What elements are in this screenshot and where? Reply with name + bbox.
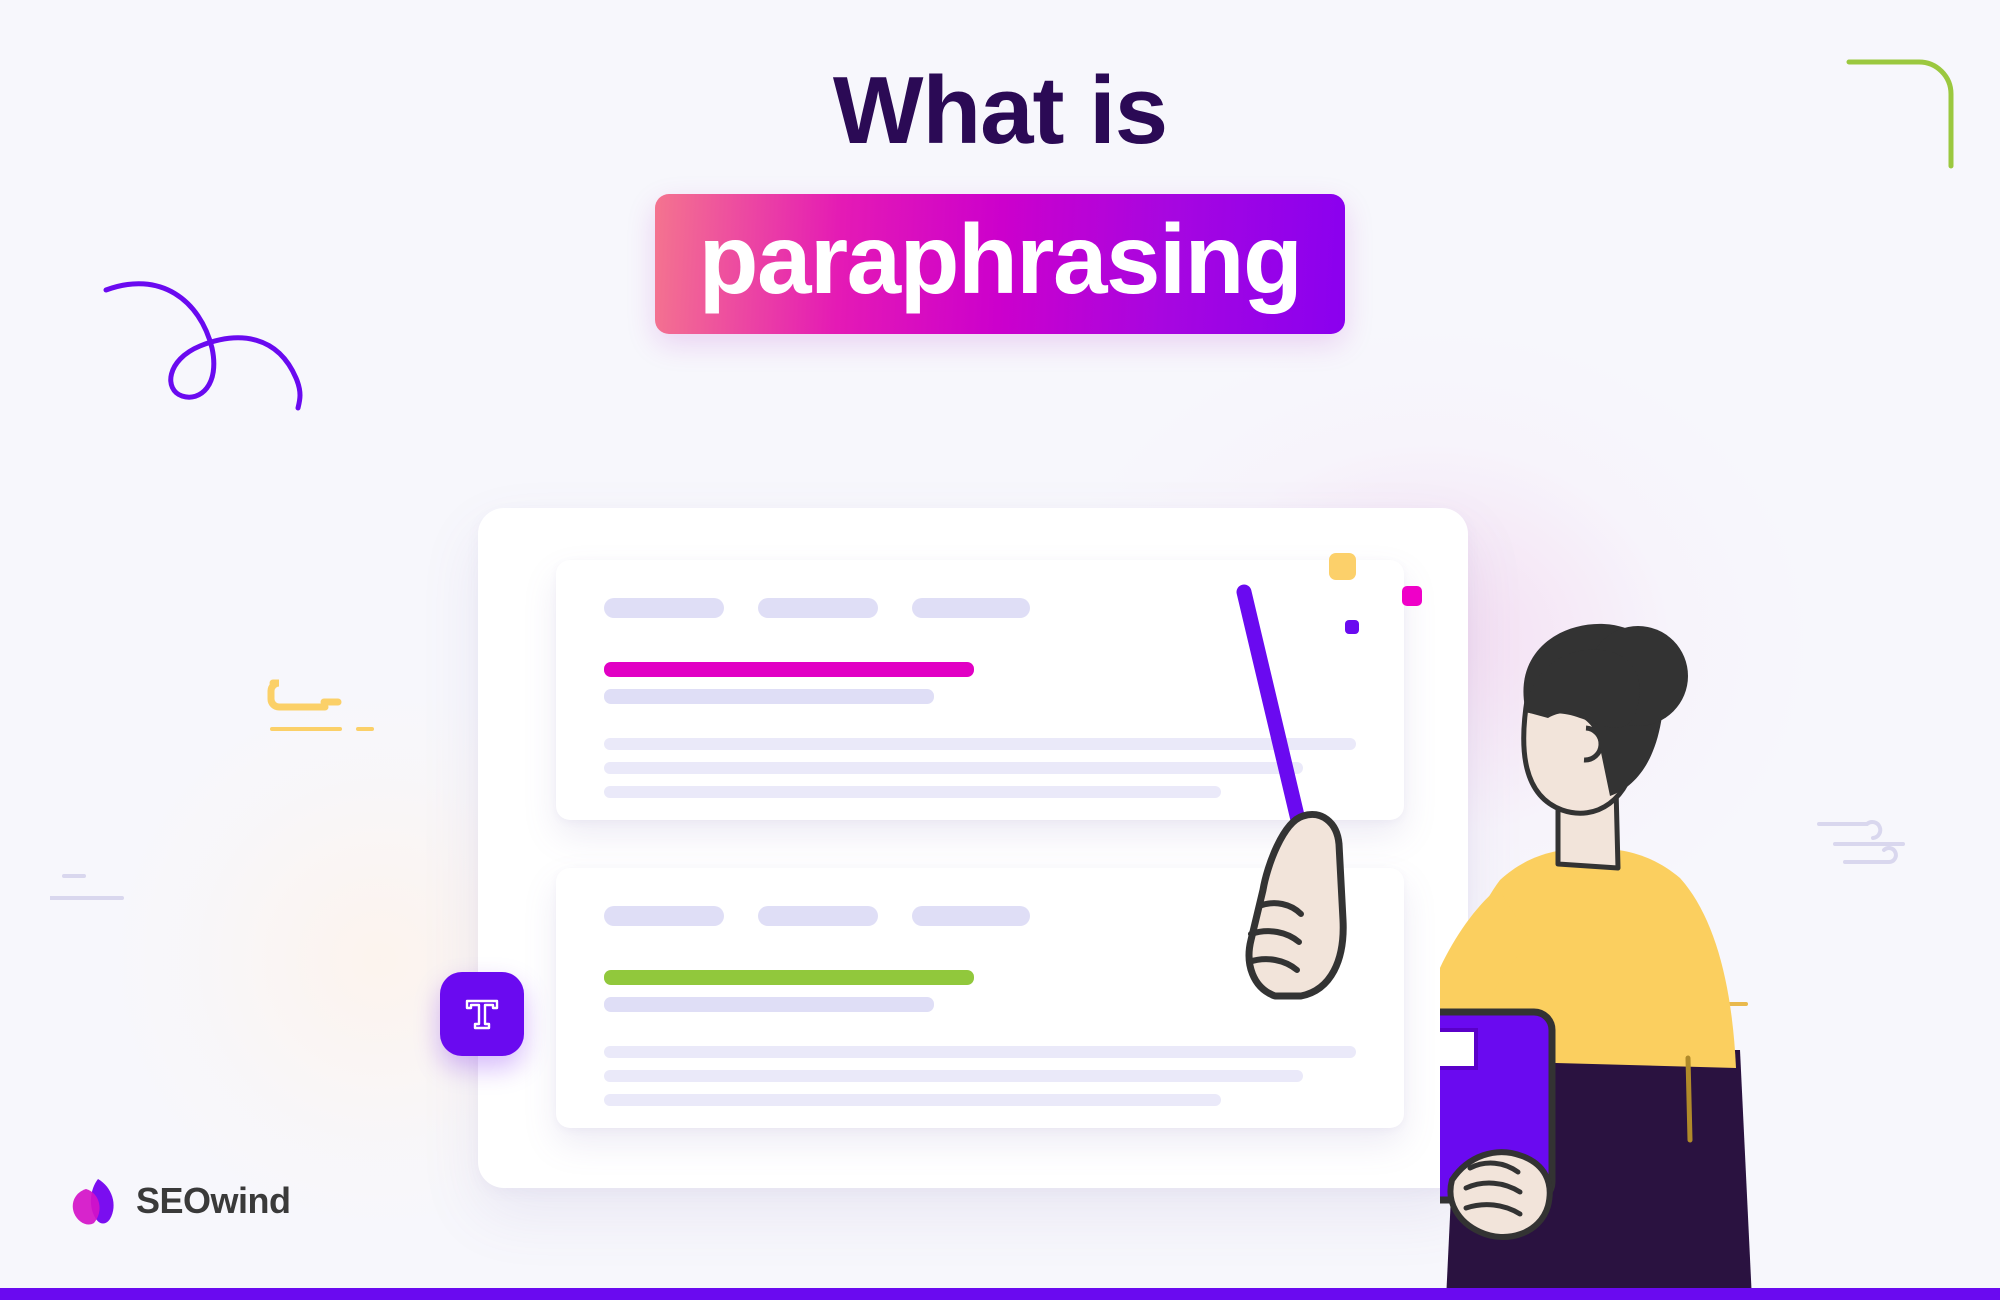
seowind-leaf-logo-icon	[68, 1175, 120, 1227]
line-full	[604, 1046, 1356, 1058]
sub-bar	[604, 997, 934, 1012]
line-82	[604, 786, 1221, 798]
chip-c	[912, 906, 1030, 926]
chip-a	[604, 598, 724, 618]
lavender-wind-lines-left-icon	[50, 860, 180, 930]
line-93	[604, 1070, 1303, 1082]
sub-bar	[604, 689, 934, 704]
yellow-dashes-icon	[232, 652, 407, 772]
chip-row	[604, 906, 1356, 926]
text-T-icon	[460, 992, 504, 1036]
line-82	[604, 1094, 1221, 1106]
chip-b	[758, 906, 878, 926]
lavender-wind-lines-right-icon	[1815, 810, 1945, 880]
title-gradient-badge: paraphrasing	[655, 194, 1346, 334]
woman-pointing-with-tablet-illustration	[1440, 620, 1770, 1300]
chip-b	[758, 598, 878, 618]
brand-logo[interactable]: SEOwind	[68, 1175, 291, 1227]
bottom-accent-bar	[0, 1288, 2000, 1300]
body-lines	[604, 1046, 1356, 1106]
chip-c	[912, 598, 1030, 618]
pointing-hand-icon	[1245, 800, 1395, 1000]
chip-a	[604, 906, 724, 926]
title-line-one: What is	[0, 62, 2000, 160]
text-tool-badge[interactable]	[440, 972, 524, 1056]
title-line-two: paraphrasing	[699, 204, 1302, 314]
yellow-square-icon	[1329, 553, 1356, 580]
page-canvas: What is paraphrasing	[0, 0, 2000, 1300]
accent-bar-pink	[604, 662, 974, 677]
accent-bar-green	[604, 970, 974, 985]
line-93	[604, 762, 1303, 774]
brand-name: SEOwind	[136, 1180, 291, 1222]
pink-square-icon	[1402, 586, 1422, 606]
page-title: What is paraphrasing	[0, 62, 2000, 334]
